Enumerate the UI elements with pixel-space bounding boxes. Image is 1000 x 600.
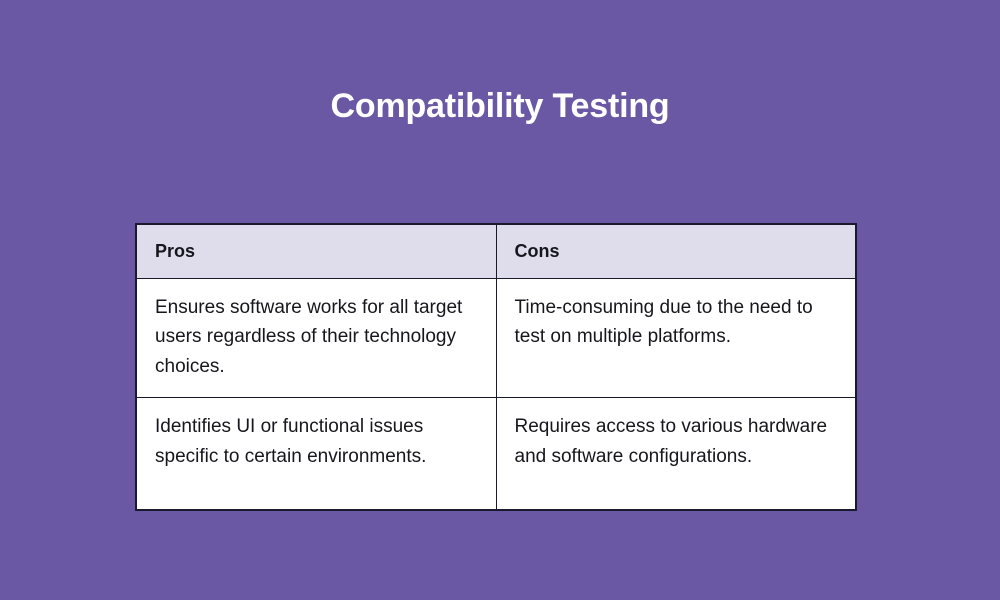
table-header-row: Pros Cons (136, 224, 856, 278)
cell-pros-2: Identifies UI or functional issues speci… (136, 398, 496, 510)
cell-pros-1: Ensures software works for all target us… (136, 278, 496, 398)
slide-canvas: Compatibility Testing Pros Cons Ensures … (0, 0, 1000, 600)
cell-cons-2: Requires access to various hardware and … (496, 398, 856, 510)
table-body: Ensures software works for all target us… (136, 278, 856, 510)
column-header-pros: Pros (136, 224, 496, 278)
table-row: Ensures software works for all target us… (136, 278, 856, 398)
table-row: Identifies UI or functional issues speci… (136, 398, 856, 510)
page-title: Compatibility Testing (0, 84, 1000, 128)
column-header-cons: Cons (496, 224, 856, 278)
table-header: Pros Cons (136, 224, 856, 278)
cell-cons-1: Time-consuming due to the need to test o… (496, 278, 856, 398)
pros-cons-table: Pros Cons Ensures software works for all… (135, 223, 857, 511)
